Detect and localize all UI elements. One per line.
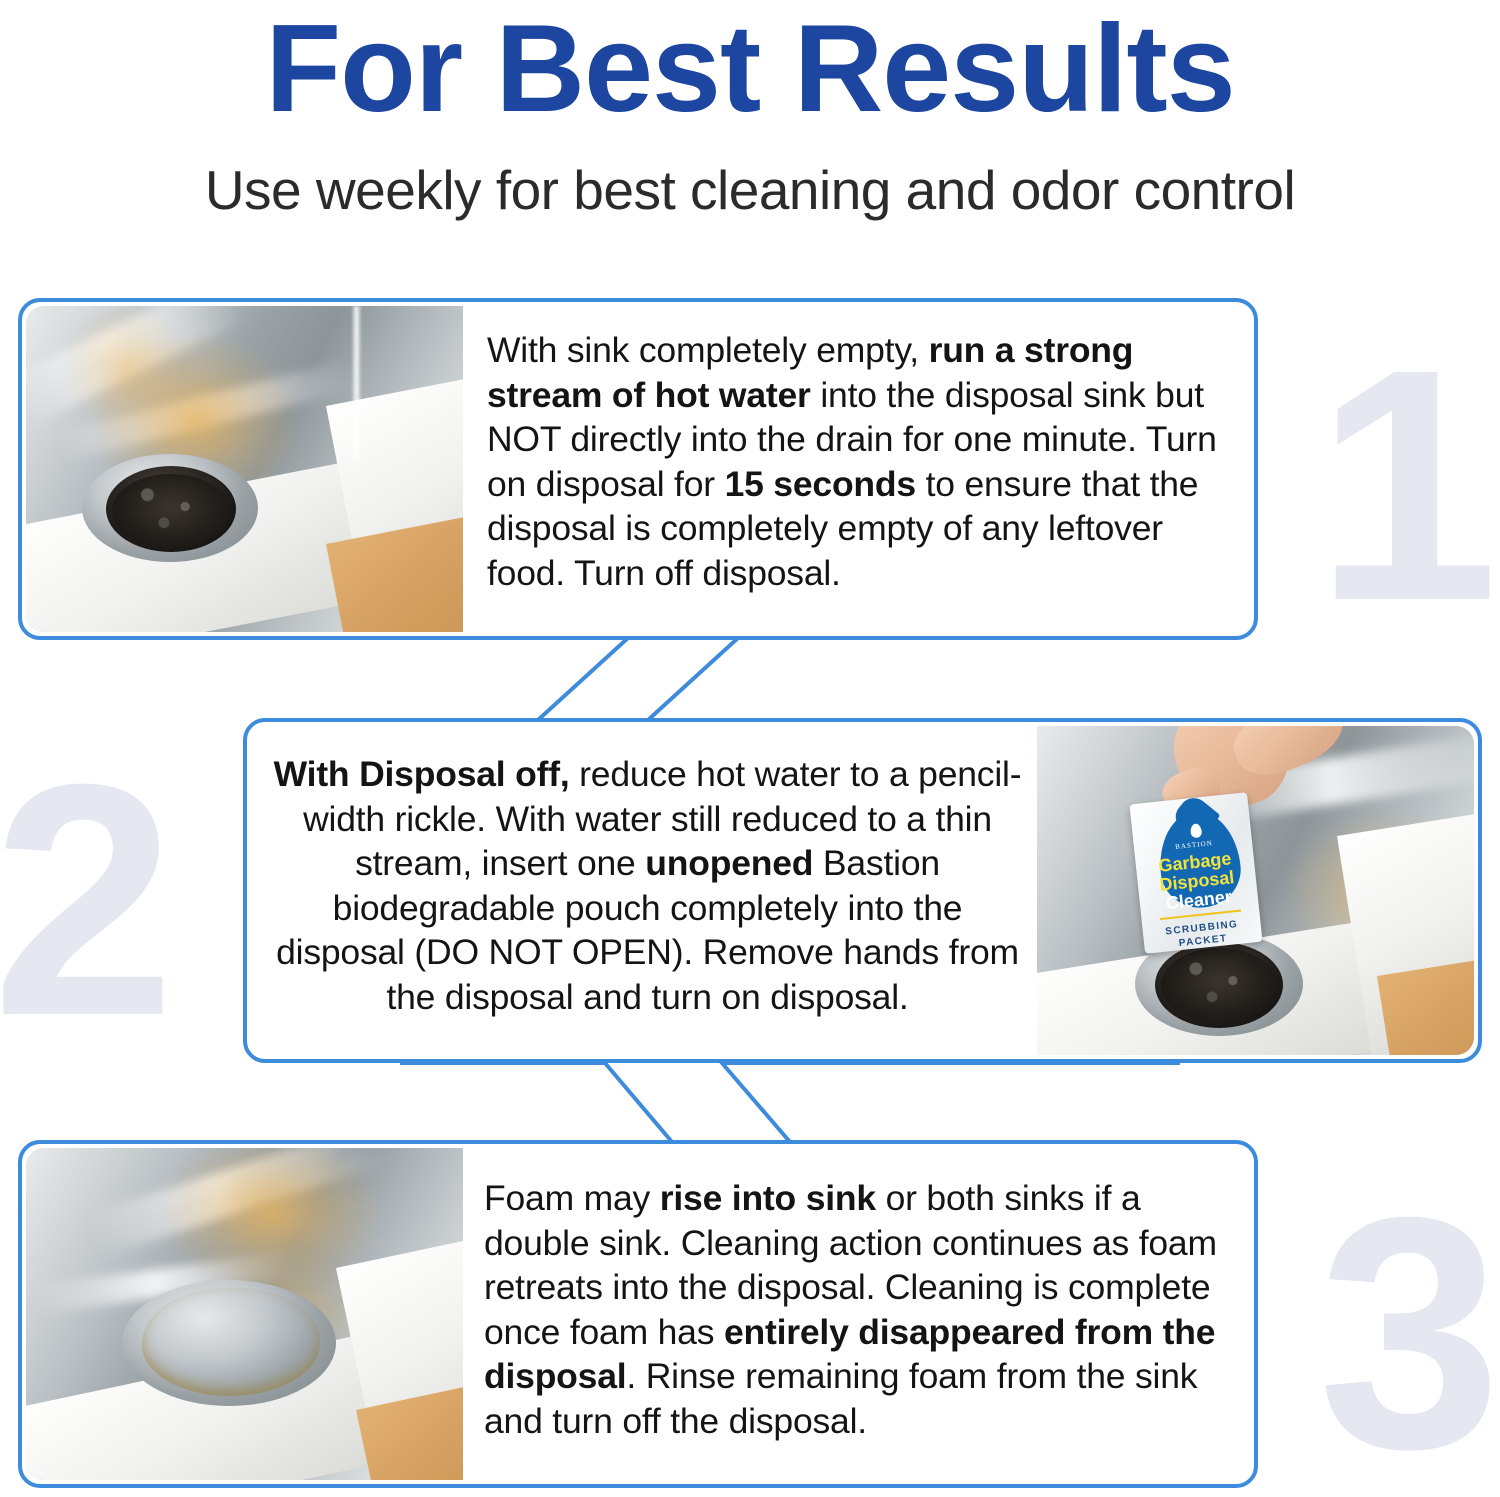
header: For Best Results Use weekly for best cle… bbox=[0, 0, 1500, 221]
product-pouch: BASTION Garbage Disposal Cleaner SCRUBBI… bbox=[1129, 792, 1262, 954]
infographic-page: For Best Results Use weekly for best cle… bbox=[0, 0, 1500, 1497]
step-1-photo bbox=[26, 306, 463, 632]
step-3-photo bbox=[26, 1148, 463, 1480]
step-card-1: With sink completely empty, run a strong… bbox=[18, 298, 1258, 640]
step-1-text: With sink completely empty, run a strong… bbox=[487, 328, 1242, 595]
step-2-photo: BASTION Garbage Disposal Cleaner SCRUBBI… bbox=[1037, 726, 1474, 1055]
step-number-2: 2 bbox=[0, 735, 176, 1065]
step-card-3: Foam may rise into sink or both sinks if… bbox=[18, 1140, 1258, 1488]
step-number-3: 3 bbox=[1318, 1168, 1500, 1497]
foam bbox=[142, 1288, 320, 1396]
page-subtitle: Use weekly for best cleaning and odor co… bbox=[0, 160, 1500, 221]
page-title: For Best Results bbox=[0, 6, 1500, 132]
step-3-text: Foam may rise into sink or both sinks if… bbox=[484, 1176, 1244, 1443]
step-card-2: With Disposal off, reduce hot water to a… bbox=[243, 718, 1482, 1063]
step-2-text: With Disposal off, reduce hot water to a… bbox=[265, 752, 1030, 1019]
